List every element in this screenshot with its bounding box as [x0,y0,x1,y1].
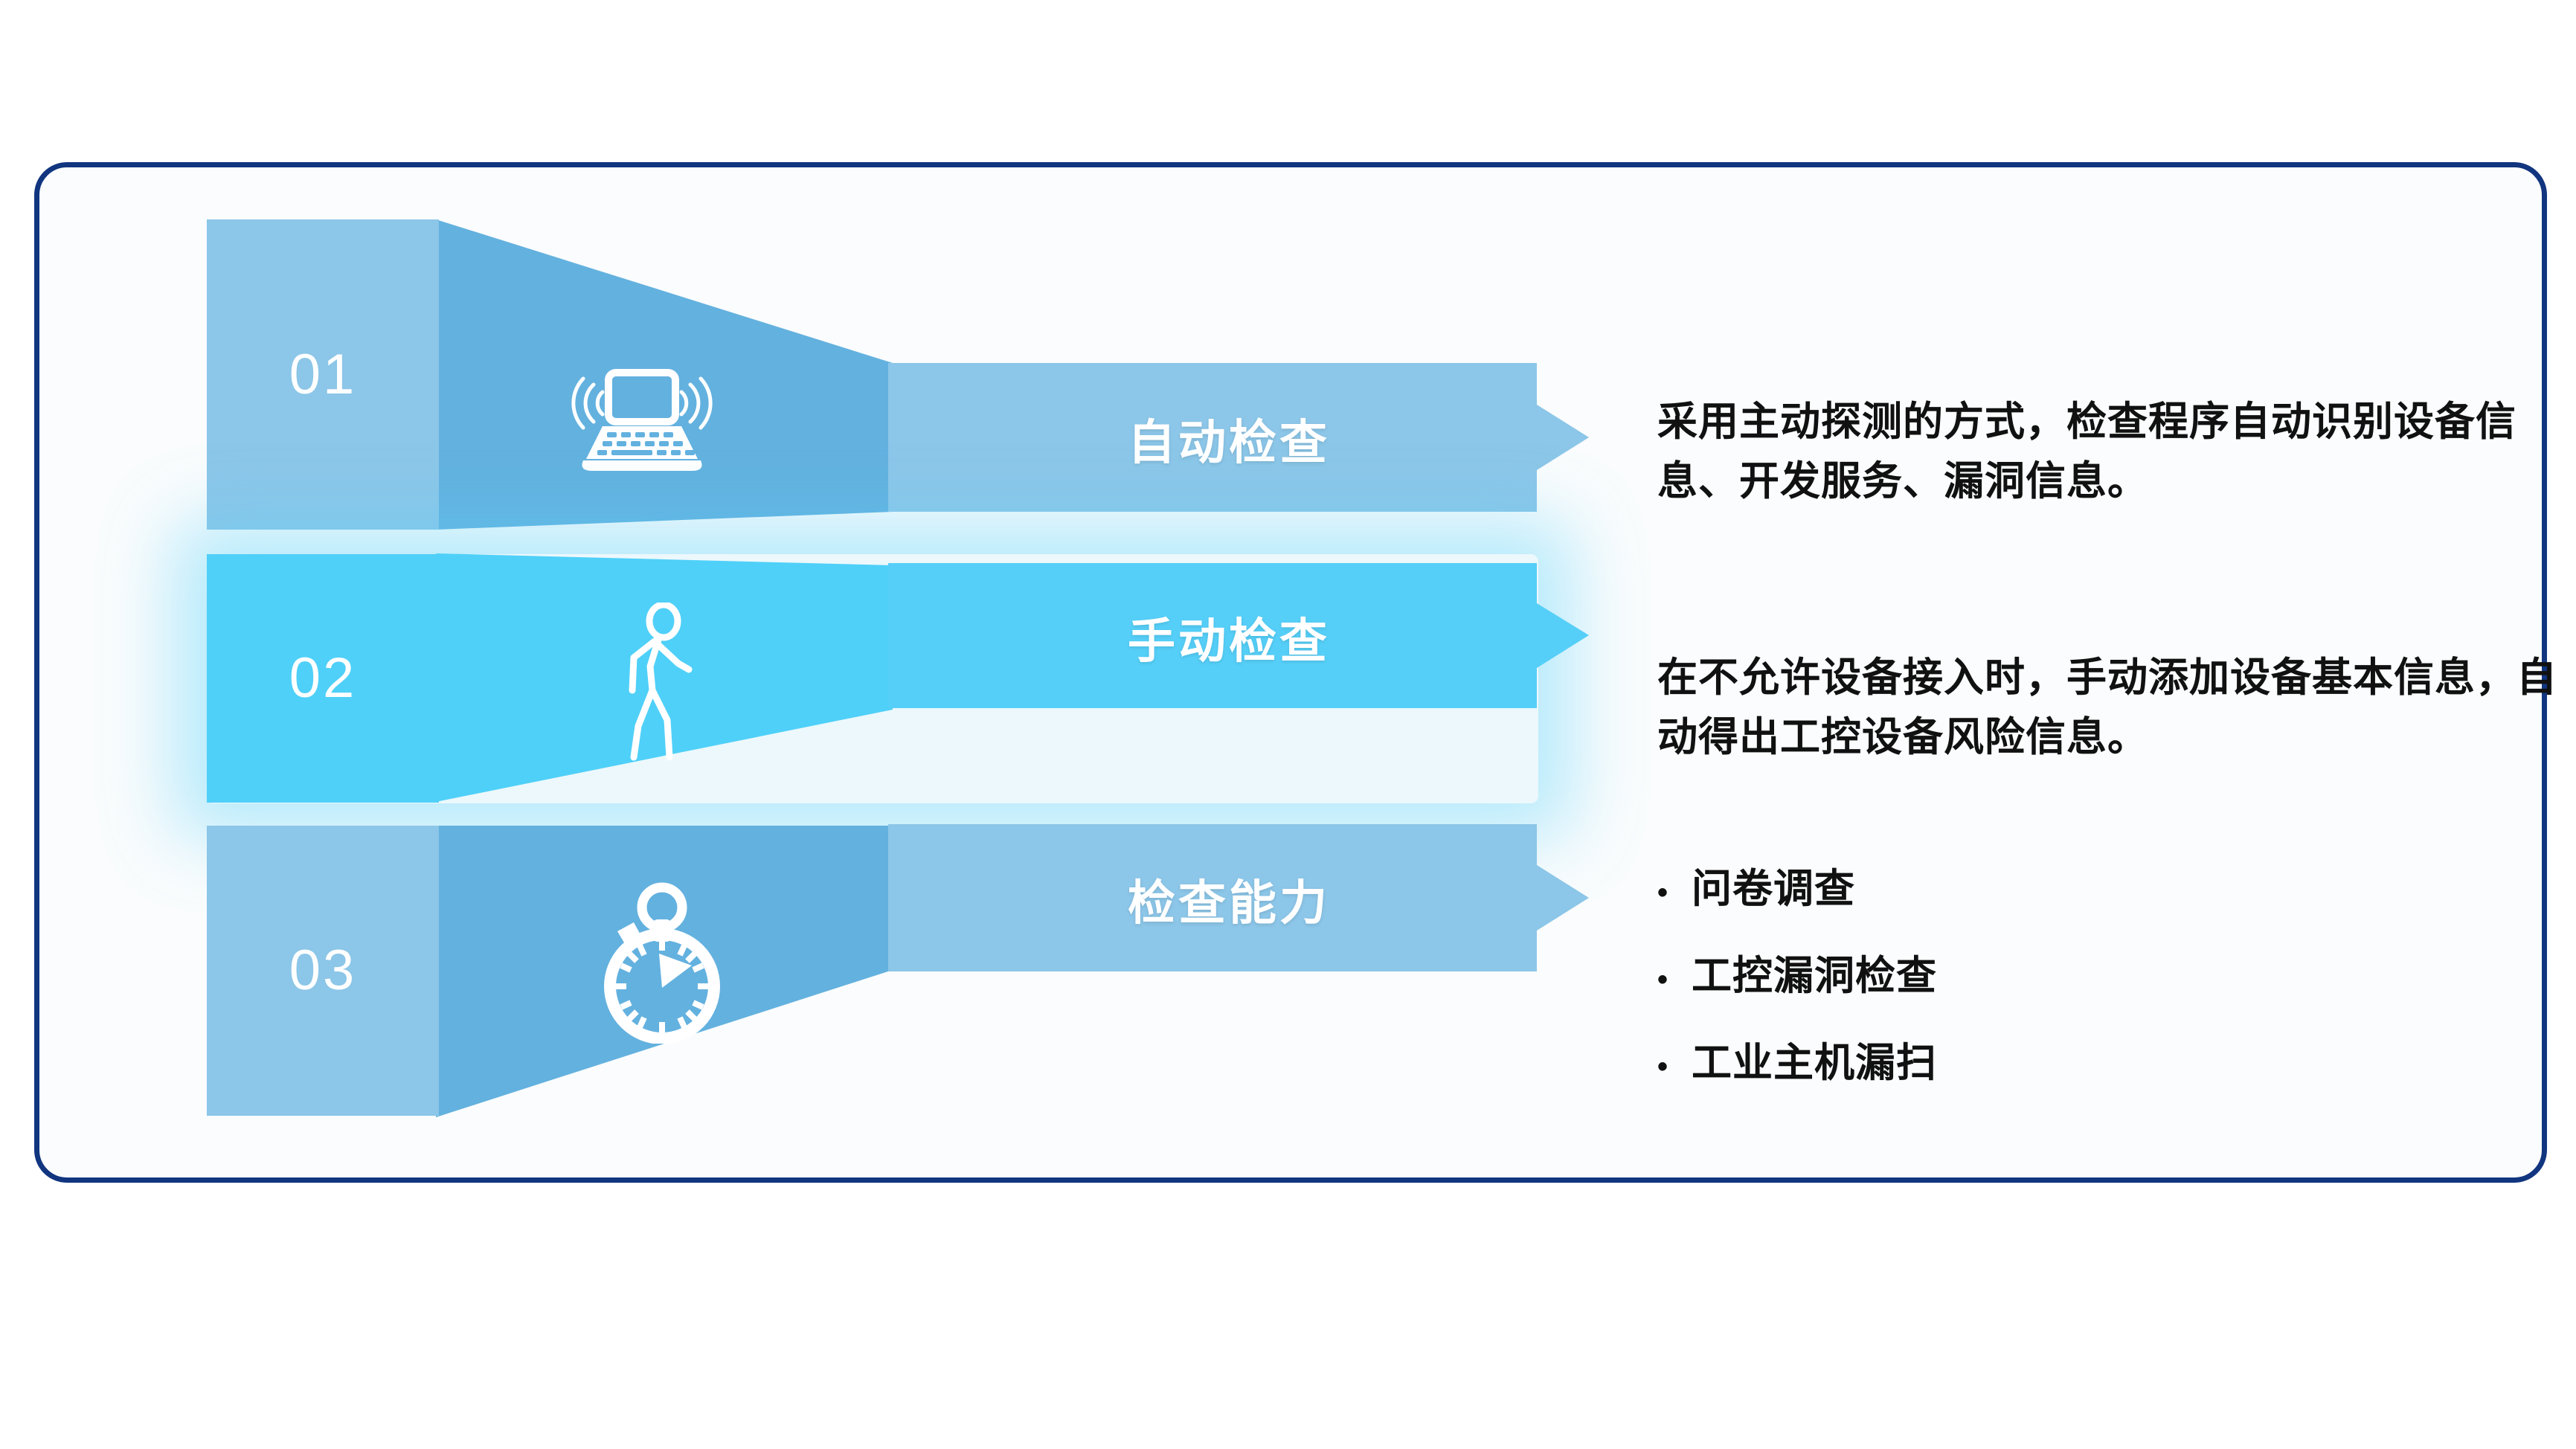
band-label-3: 检查能力 [1128,865,1330,934]
row-description-1: 采用主动探测的方式，检查程序自动识别设备信息、开发服务、漏洞信息。 [1657,393,2576,512]
step-number-1: 01 [289,347,357,403]
bullet-marker-icon: • [1657,878,1692,907]
funnel-shape-2 [436,552,893,805]
step-number-block-1: 01 [207,219,439,530]
label-band-2: 手动检查 [888,563,1591,708]
bullet-marker-icon: • [1657,1052,1692,1082]
step-number-block-3: 03 [207,826,439,1116]
bullet-marker-icon: • [1657,965,1692,995]
row-bullet-list-3: • 问卷调查 • 工控漏洞检查 • 工业主机漏扫 [1657,855,1937,1117]
bullet-item: • 工业主机漏扫 [1657,1029,1937,1088]
bullet-text: 工业主机漏扫 [1692,1029,1937,1088]
bullet-text: 问卷调查 [1692,855,1855,914]
label-band-1: 自动检查 [888,363,1591,512]
funnel-shape-3 [436,824,893,1120]
band-label-1: 自动检查 [1128,405,1330,473]
label-band-3: 检查能力 [888,824,1591,971]
step-number-block-2: 02 [207,554,439,803]
row-description-2: 在不允许设备接入时，手动添加设备基本信息，自动得出工控设备风险信息。 [1657,649,2576,768]
funnel-shape-1 [436,216,893,536]
bullet-item: • 工控漏洞检查 [1657,942,1937,1001]
bullet-text: 工控漏洞检查 [1692,942,1937,1001]
step-number-3: 03 [289,942,357,999]
step-number-2: 02 [289,650,357,707]
bullet-item: • 问卷调查 [1657,855,1937,914]
band-label-2: 手动检查 [1128,603,1330,672]
infographic-canvas: 01 [0,0,2576,1449]
